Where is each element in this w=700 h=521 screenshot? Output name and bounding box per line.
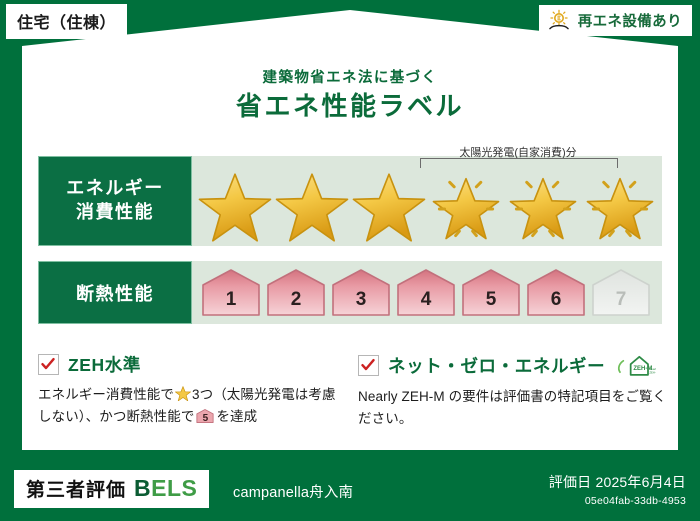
insulation-level: 5 [460, 268, 522, 317]
insulation-level-number: 4 [395, 289, 457, 311]
building-type-tag: 住宅（住棟） [6, 4, 127, 39]
insulation-level: 4 [395, 268, 457, 317]
insulation-level-number: 2 [265, 289, 327, 311]
checkbox-checked-icon [38, 354, 59, 375]
star-filled [350, 170, 427, 244]
zeh-standard-header: ZEH水準 [38, 352, 336, 377]
project-name: campanella舟入南 [233, 481, 353, 502]
insulation-level-inactive: 7 [590, 268, 652, 317]
insulation-performance-row: 断熱性能 1 2 3 4 [38, 261, 662, 324]
renewable-energy-label: 再エネ設備あり [578, 10, 682, 31]
bels-logo-els: ELS [151, 475, 197, 502]
energy-tag-line2: 消費性能 [76, 201, 154, 225]
insulation-level-number: 7 [590, 289, 652, 311]
net-zero-energy-title: ネット・ゼロ・エネルギー [388, 353, 605, 378]
sun-icon [547, 9, 571, 31]
insulation-level-number: 3 [330, 289, 392, 311]
solar-annotation-bracket [420, 158, 618, 168]
insulation-badge-number: 5 [196, 414, 214, 424]
insulation-level-number: 6 [525, 289, 587, 311]
net-zero-energy-block: ネット・ゼロ・エネルギー ZEH-M Nearly ZEH-M Nearly Z… [358, 352, 668, 429]
insulation-performance-tag: 断熱性能 [38, 261, 192, 324]
insulation-performance-body: 1 2 3 4 5 [192, 261, 662, 324]
renewable-energy-badge: 再エネ設備あり [539, 5, 692, 36]
energy-performance-label: 住宅（住棟） 再エネ設備あり 建築物省エネ法に基づく 省エネ性能ラベル エネルギ… [0, 0, 700, 521]
evaluation-info: 評価日 2025年6月4日 05e04fab-33db-4953 [549, 472, 686, 507]
zeh-desc-part3: を達成 [216, 409, 257, 424]
energy-star-rating [196, 170, 658, 244]
star-filled-solar [504, 170, 581, 244]
insulation-level: 2 [265, 268, 327, 317]
insulation-level-number: 5 [460, 289, 522, 311]
insulation-level: 3 [330, 268, 392, 317]
zeh-m-logo-icon: ZEH-M Nearly ZEH-M [616, 352, 656, 379]
net-zero-energy-description: Nearly ZEH-M の要件は評価書の特記項目をご覧ください。 [358, 386, 668, 429]
energy-performance-body: 太陽光発電(自家消費)分 [192, 156, 662, 246]
star-filled [273, 170, 350, 244]
zeh-desc-part1: エネルギー消費性能で [38, 387, 174, 402]
energy-performance-tag: エネルギー 消費性能 [38, 156, 192, 246]
insulation-level: 6 [525, 268, 587, 317]
evaluation-id: 05e04fab-33db-4953 [549, 495, 686, 507]
energy-performance-row: エネルギー 消費性能 太陽光発電(自家消費)分 [38, 156, 662, 246]
star-filled-solar [427, 170, 504, 244]
insulation-level-scale: 1 2 3 4 5 [192, 268, 652, 317]
certification-checks: ZEH水準 エネルギー消費性能で3つ（太陽光発電は考慮しない）、かつ断熱性能で5… [38, 352, 668, 429]
zeh-standard-block: ZEH水準 エネルギー消費性能で3つ（太陽光発電は考慮しない）、かつ断熱性能で5… [38, 352, 336, 429]
energy-tag-line1: エネルギー [66, 177, 164, 201]
bels-plate: 第三者評価 B ELS [14, 470, 209, 508]
label-subtitle: 建築物省エネ法に基づく [0, 66, 700, 87]
insulation-level: 1 [200, 268, 262, 317]
label-footer: 第三者評価 B ELS campanella舟入南 評価日 2025年6月4日 … [0, 459, 700, 521]
zeh-standard-title: ZEH水準 [68, 352, 141, 377]
bels-logo-b: B [134, 475, 151, 502]
checkbox-checked-icon [358, 355, 379, 376]
star-filled-solar [581, 170, 658, 244]
star-icon [175, 386, 191, 401]
insulation-level-number: 1 [200, 289, 262, 311]
evaluation-date: 評価日 2025年6月4日 [549, 472, 686, 492]
zeh-standard-description: エネルギー消費性能で3つ（太陽光発電は考慮しない）、かつ断熱性能で5を達成 [38, 384, 336, 427]
svg-text:ZEH-M: ZEH-M [650, 371, 657, 375]
label-title: 省エネ性能ラベル [0, 86, 700, 123]
bels-third-party-label: 第三者評価 [26, 475, 126, 502]
net-zero-energy-header: ネット・ゼロ・エネルギー ZEH-M Nearly ZEH-M [358, 352, 668, 379]
star-filled [196, 170, 273, 244]
insulation-badge-icon: 5 [196, 408, 214, 424]
